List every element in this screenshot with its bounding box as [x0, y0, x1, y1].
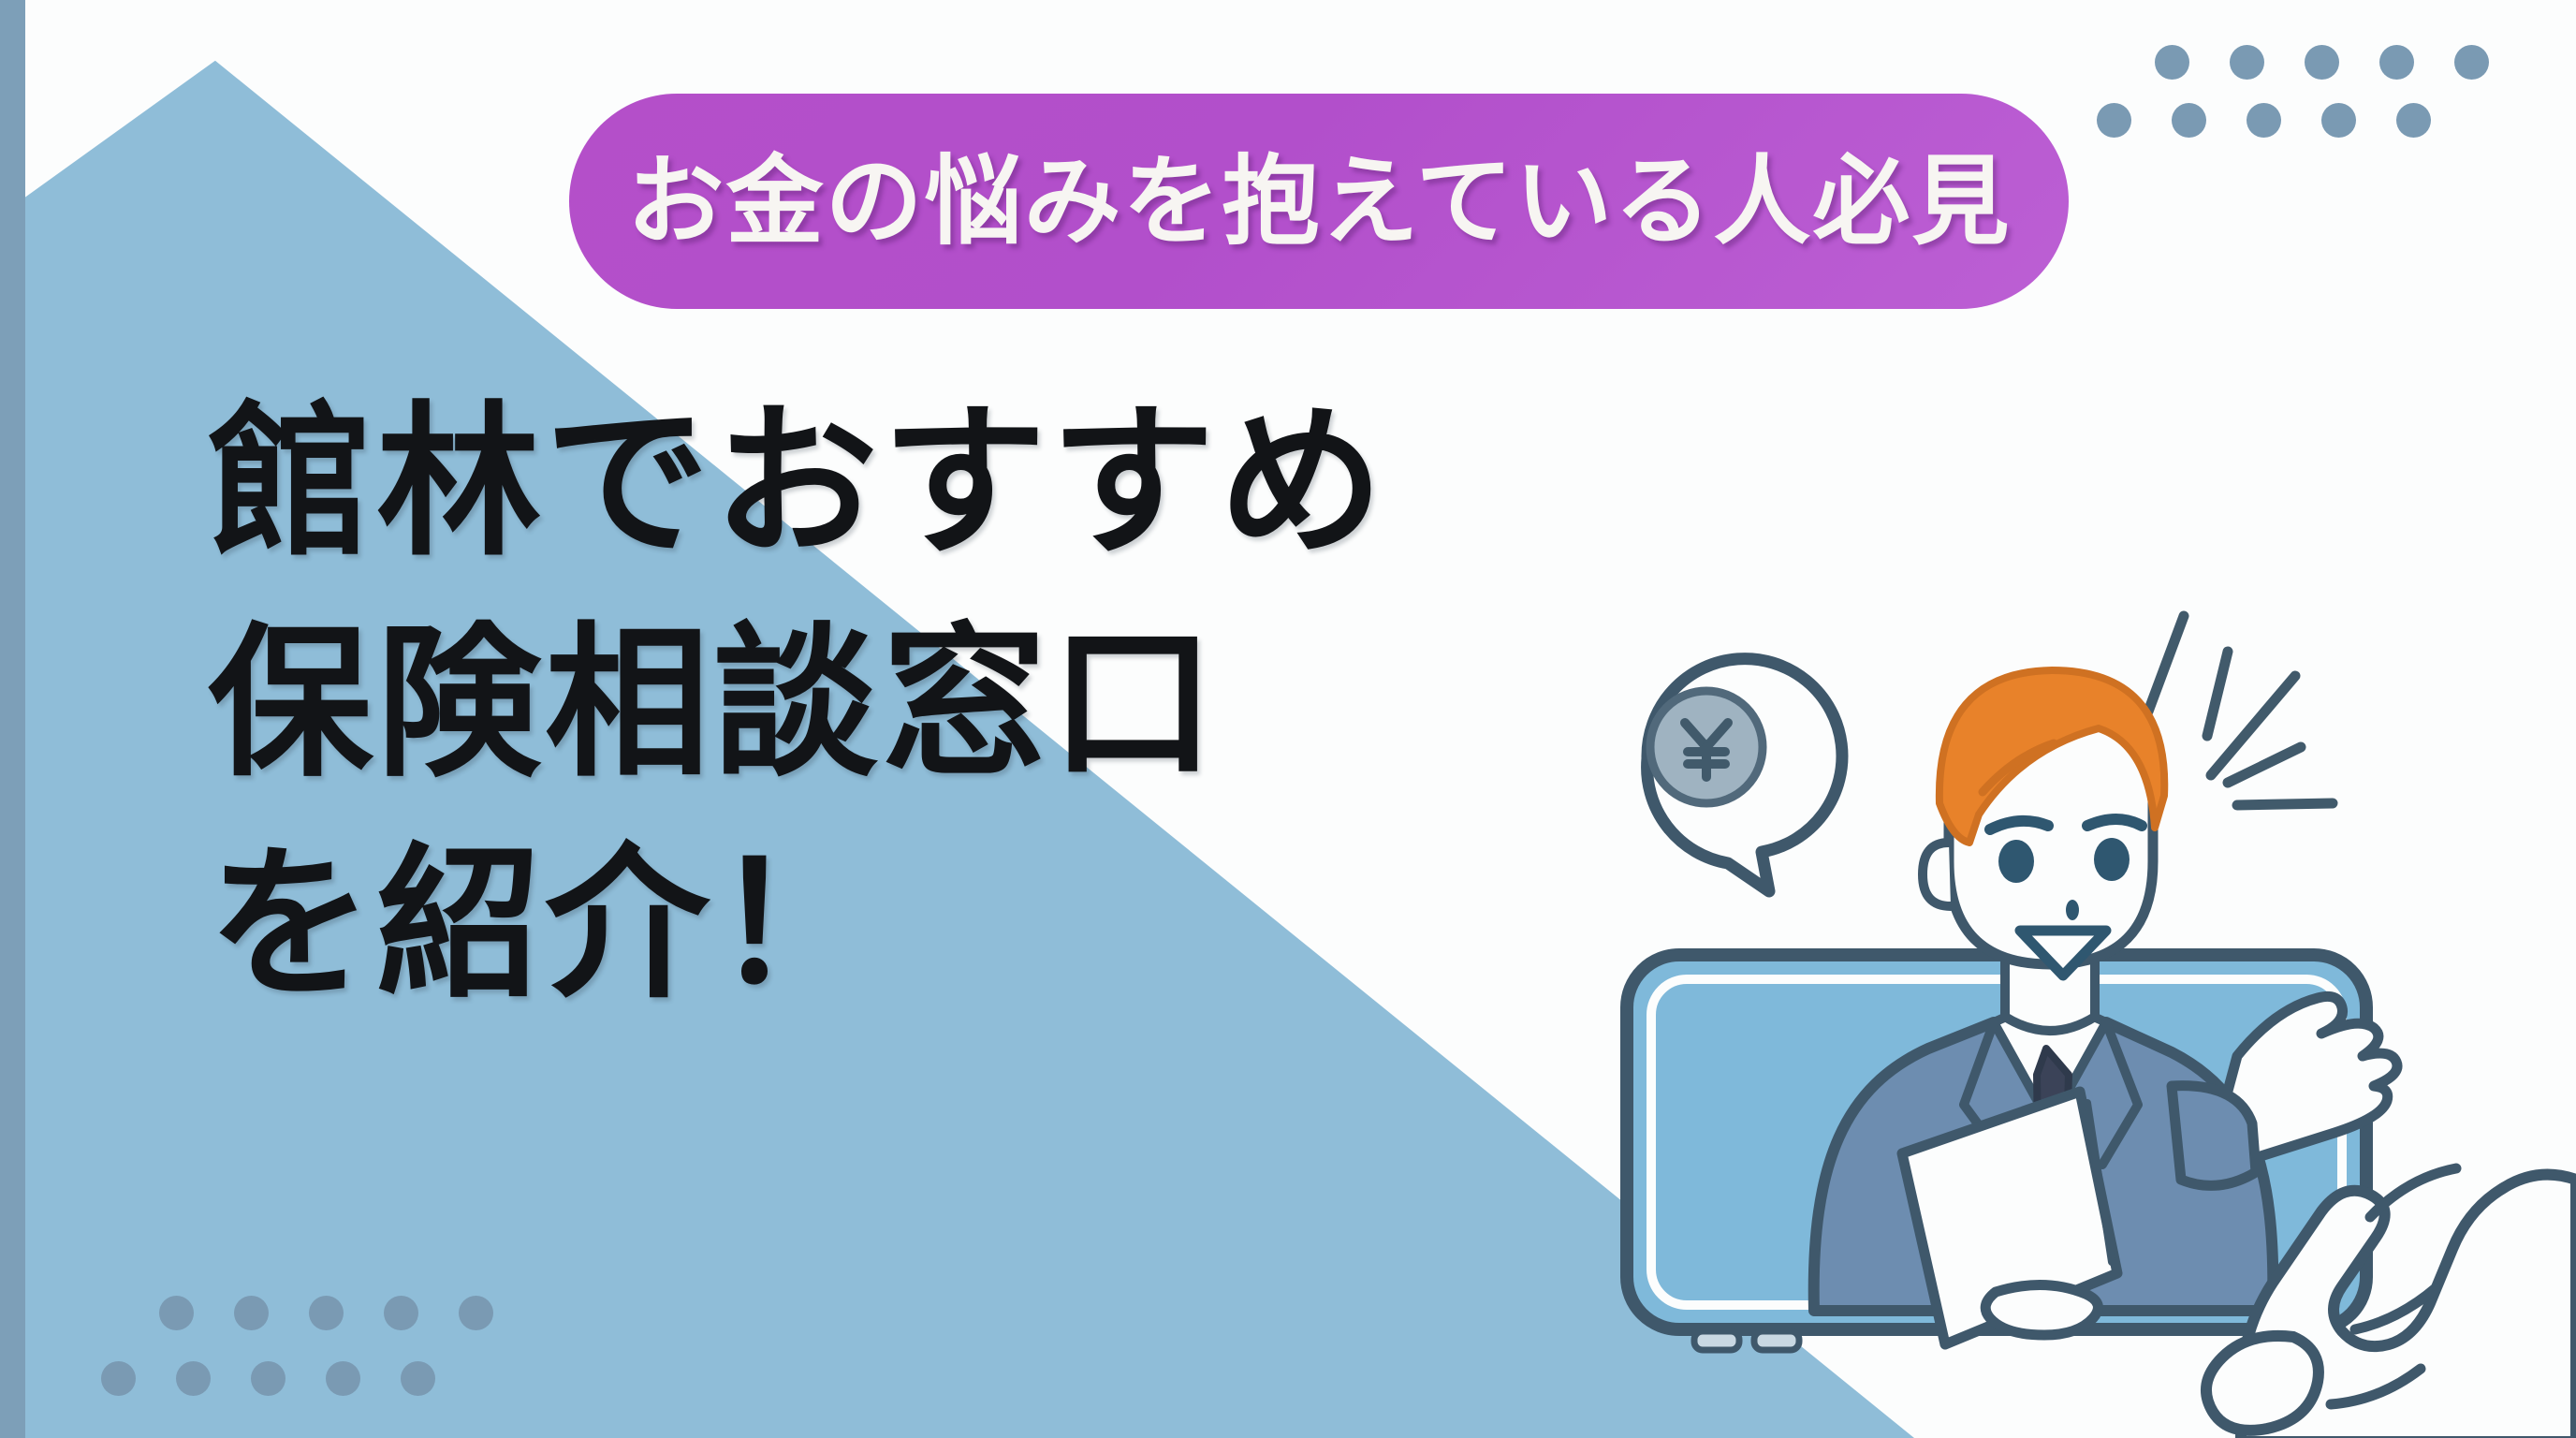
- dot-grid-top-right: [2089, 45, 2557, 213]
- decor-dot: [2305, 45, 2339, 80]
- decor-dot: [2172, 103, 2206, 138]
- decor-dot: [2230, 45, 2264, 80]
- decor-dot: [251, 1361, 285, 1396]
- decor-dot: [2155, 45, 2189, 80]
- banner-root: お金の悩みを抱えている人必見 館林でおすすめ 保険相談窓口 を紹介！: [0, 0, 2576, 1438]
- yen-speech-bubble: [1647, 659, 1842, 891]
- decor-dot: [2454, 45, 2489, 80]
- background-left-strip: [0, 0, 25, 1438]
- badge-pill: お金の悩みを抱えている人必見: [569, 94, 2069, 309]
- decor-dot: [2321, 103, 2356, 138]
- decor-dot: [459, 1296, 493, 1330]
- decor-dot: [401, 1361, 435, 1396]
- decor-dot: [2097, 103, 2131, 138]
- illustration-businessman-phone: [1582, 562, 2576, 1438]
- decor-dot: [384, 1296, 418, 1330]
- decor-dot: [234, 1296, 269, 1330]
- dot-grid-bottom-left: [94, 1251, 580, 1438]
- headline-line-1: 館林でおすすめ: [208, 373, 1855, 594]
- emphasis-lines: [2148, 616, 2333, 805]
- decor-dot: [326, 1361, 360, 1396]
- decor-dot: [176, 1361, 211, 1396]
- decor-dot: [159, 1296, 194, 1330]
- badge-label: お金の悩みを抱えている人必見: [627, 153, 2012, 250]
- decor-dot: [101, 1361, 136, 1396]
- decor-dot: [309, 1296, 344, 1330]
- decor-dot: [2396, 103, 2431, 138]
- decor-dot: [2247, 103, 2281, 138]
- decor-dot: [2379, 45, 2414, 80]
